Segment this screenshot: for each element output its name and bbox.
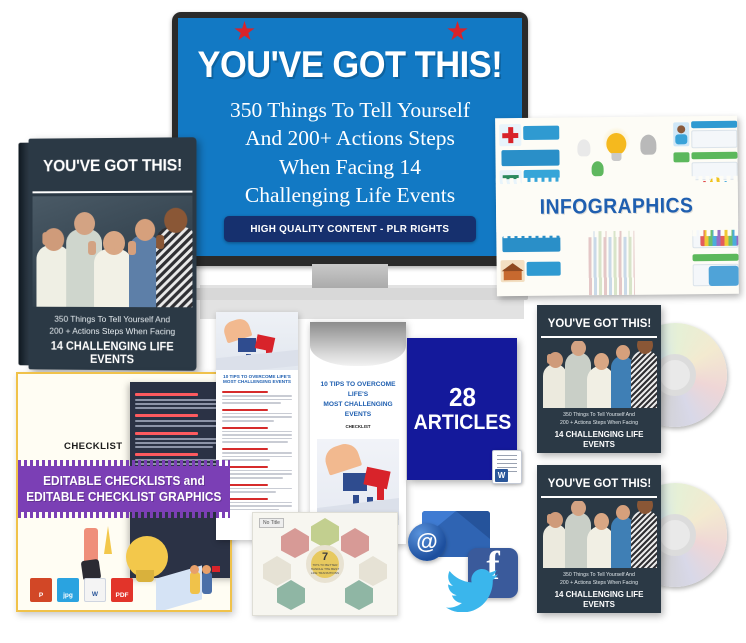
social-icon-group: f <box>446 548 518 612</box>
articles-count-panel: 28 ARTICLES W <box>407 338 517 480</box>
dvd-title-band-2: YOU'VE GOT THIS! <box>541 469 657 498</box>
page-curl <box>310 322 406 366</box>
monitor-bezel: YOU'VE GOT THIS! 350 Things To Tell Your… <box>172 12 528 266</box>
articles-count-label: ARTICLES <box>413 412 511 434</box>
dvd-photo-1 <box>541 341 657 408</box>
subtitle-line-4: Challenging Life Events <box>185 181 515 209</box>
subtitle-line-2: And 200+ Actions Steps <box>185 124 515 152</box>
dvd-case-cover-2: YOU'VE GOT THIS! 350 Things To Tell Your… <box>537 465 661 613</box>
infographics-color-strips <box>588 229 635 295</box>
checklist-banner-line-2: EDITABLE CHECKLIST GRAPHICS <box>26 489 221 505</box>
circle-infographic-hub: 7 TIPS TO BETTER HANDLE THE BEST LIFE TR… <box>306 545 344 583</box>
jpg-file-icon: jpg <box>57 578 79 602</box>
subtitle-line-3: When Facing 14 <box>185 153 515 181</box>
ebook-photo-thumbs-up <box>33 196 193 307</box>
ebook-footer-line-1: 350 Things To Tell Yourself And <box>36 312 188 325</box>
infographics-title-band: INFOGRAPHICS <box>496 182 738 233</box>
dvd-footer-line-1: 350 Things To Tell Yourself And <box>541 411 657 419</box>
ebook-footer: 350 Things To Tell Yourself And 200 + Ac… <box>33 310 193 366</box>
dvd-case-mockup-1: YOU'VE GOT THIS! 350 Things To Tell Your… <box>529 305 729 455</box>
pdf-file-icon: PDF <box>111 578 133 602</box>
checklist-label: CHECKLIST <box>64 441 123 452</box>
car-illustration-icon <box>709 266 739 286</box>
dvd-case-cover-1: YOU'VE GOT THIS! 350 Things To Tell Your… <box>537 305 661 453</box>
dvd-footer-2-line-3: 14 CHALLENGING LIFE EVENTS <box>544 589 654 609</box>
dvd-footer-2: 350 Things To Tell Yourself And 200 + Ac… <box>541 571 657 609</box>
people-walking-illustration <box>156 548 226 606</box>
dvd-title-1: YOU'VE GOT THIS! <box>547 316 650 330</box>
ebook-footer-line-2: 200 + Actions Steps When Facing <box>36 325 188 338</box>
dvd-title-band-1: YOU'VE GOT THIS! <box>541 309 657 338</box>
dvd-title-2: YOU'VE GOT THIS! <box>547 476 650 490</box>
file-format-icons: P jpg W PDF <box>30 578 133 602</box>
star-icon-left <box>234 21 255 42</box>
star-icon-right <box>447 21 468 42</box>
medical-cross-icon <box>499 124 521 146</box>
dvd-case-mockup-2: YOU'VE GOT THIS! 350 Things To Tell Your… <box>529 465 729 615</box>
checklist-doc-title: 10 TIPS TO OVERCOME LIFE'S MOST CHALLENG… <box>310 366 406 430</box>
ebook-title: YOU'VE GOT THIS! <box>43 157 182 177</box>
infographics-title: INFOGRAPHICS <box>540 194 694 220</box>
monitor-screen: YOU'VE GOT THIS! 350 Things To Tell Your… <box>178 18 522 256</box>
checklist-document-page: 10 TIPS TO OVERCOME LIFE'S MOST CHALLENG… <box>310 322 406 544</box>
circle-infographic: No Title 7 TIPS TO BETTER HANDLE THE BES… <box>252 512 398 616</box>
plr-rights-label: HIGH QUALITY CONTENT - PLR RIGHTS <box>251 223 450 235</box>
dvd-footer-line-3: 14 CHALLENGING LIFE EVENTS <box>544 429 654 449</box>
monitor-mockup: YOU'VE GOT THIS! 350 Things To Tell Your… <box>172 12 528 300</box>
word-file-icon-letter: W <box>495 469 508 482</box>
circle-infographic-caption: TIPS TO BETTER HANDLE THE BEST LIFE TRAN… <box>310 564 340 576</box>
dvd-photo-2 <box>541 501 657 568</box>
article-title: 10 TIPS TO OVERCOME LIFE'S MOST CHALLENG… <box>216 370 298 386</box>
product-mockup-canvas: YOU'VE GOT THIS! 350 Things To Tell Your… <box>0 0 746 643</box>
person-illustration-icon <box>673 122 689 146</box>
house-icon <box>501 260 525 282</box>
checklist-sheet-mockup: CHECKLIST EDITABLE CHECKLISTS and EDITAB… <box>16 372 232 612</box>
infographics-panel: INFOGRAPHICS <box>495 116 739 297</box>
subtitle: 350 Things To Tell Yourself And 200+ Act… <box>185 96 515 210</box>
page-title: YOU'VE GOT THIS! <box>198 44 503 86</box>
dvd-footer-2-line-2: 200 + Actions Steps When Facing <box>541 579 657 587</box>
circle-infographic-number: 7 <box>322 552 328 563</box>
ebook-front-cover: YOU'VE GOT THIS! <box>29 137 197 371</box>
word-file-icon: W <box>492 450 522 484</box>
hexagon-ring: 7 TIPS TO BETTER HANDLE THE BEST LIFE TR… <box>255 516 395 612</box>
checklist-doc-subtitle: CHECKLIST <box>317 424 399 431</box>
dvd-footer-line-2: 200 + Actions Steps When Facing <box>541 419 657 427</box>
ebook-cover-mockup: YOU'VE GOT THIS! <box>19 137 197 371</box>
ppt-file-icon: P <box>30 578 52 602</box>
ebook-footer-line-3: 14 CHALLENGING LIFE EVENTS <box>40 340 184 367</box>
doc-file-icon: W <box>84 578 106 602</box>
lightbulb-icon <box>601 129 631 167</box>
checklist-banner-line-1: EDITABLE CHECKLISTS and <box>43 473 205 489</box>
twitter-bird-icon <box>446 568 498 612</box>
dvd-footer-2-line-1: 350 Things To Tell Yourself And <box>541 571 657 579</box>
subtitle-line-1: 350 Things To Tell Yourself <box>185 96 515 124</box>
dvd-footer-1: 350 Things To Tell Yourself And 200 + Ac… <box>541 411 657 449</box>
articles-count-number: 28 <box>449 384 476 410</box>
monitor-base <box>172 288 528 300</box>
monitor-neck <box>312 264 388 290</box>
plr-rights-badge: HIGH QUALITY CONTENT - PLR RIGHTS <box>224 216 476 242</box>
article-hero-illustration <box>216 312 298 370</box>
checklist-banner: EDITABLE CHECKLISTS and EDITABLE CHECKLI… <box>18 466 230 512</box>
at-symbol-icon: @ <box>408 523 446 561</box>
ebook-title-band: YOU'VE GOT THIS! <box>33 141 193 193</box>
